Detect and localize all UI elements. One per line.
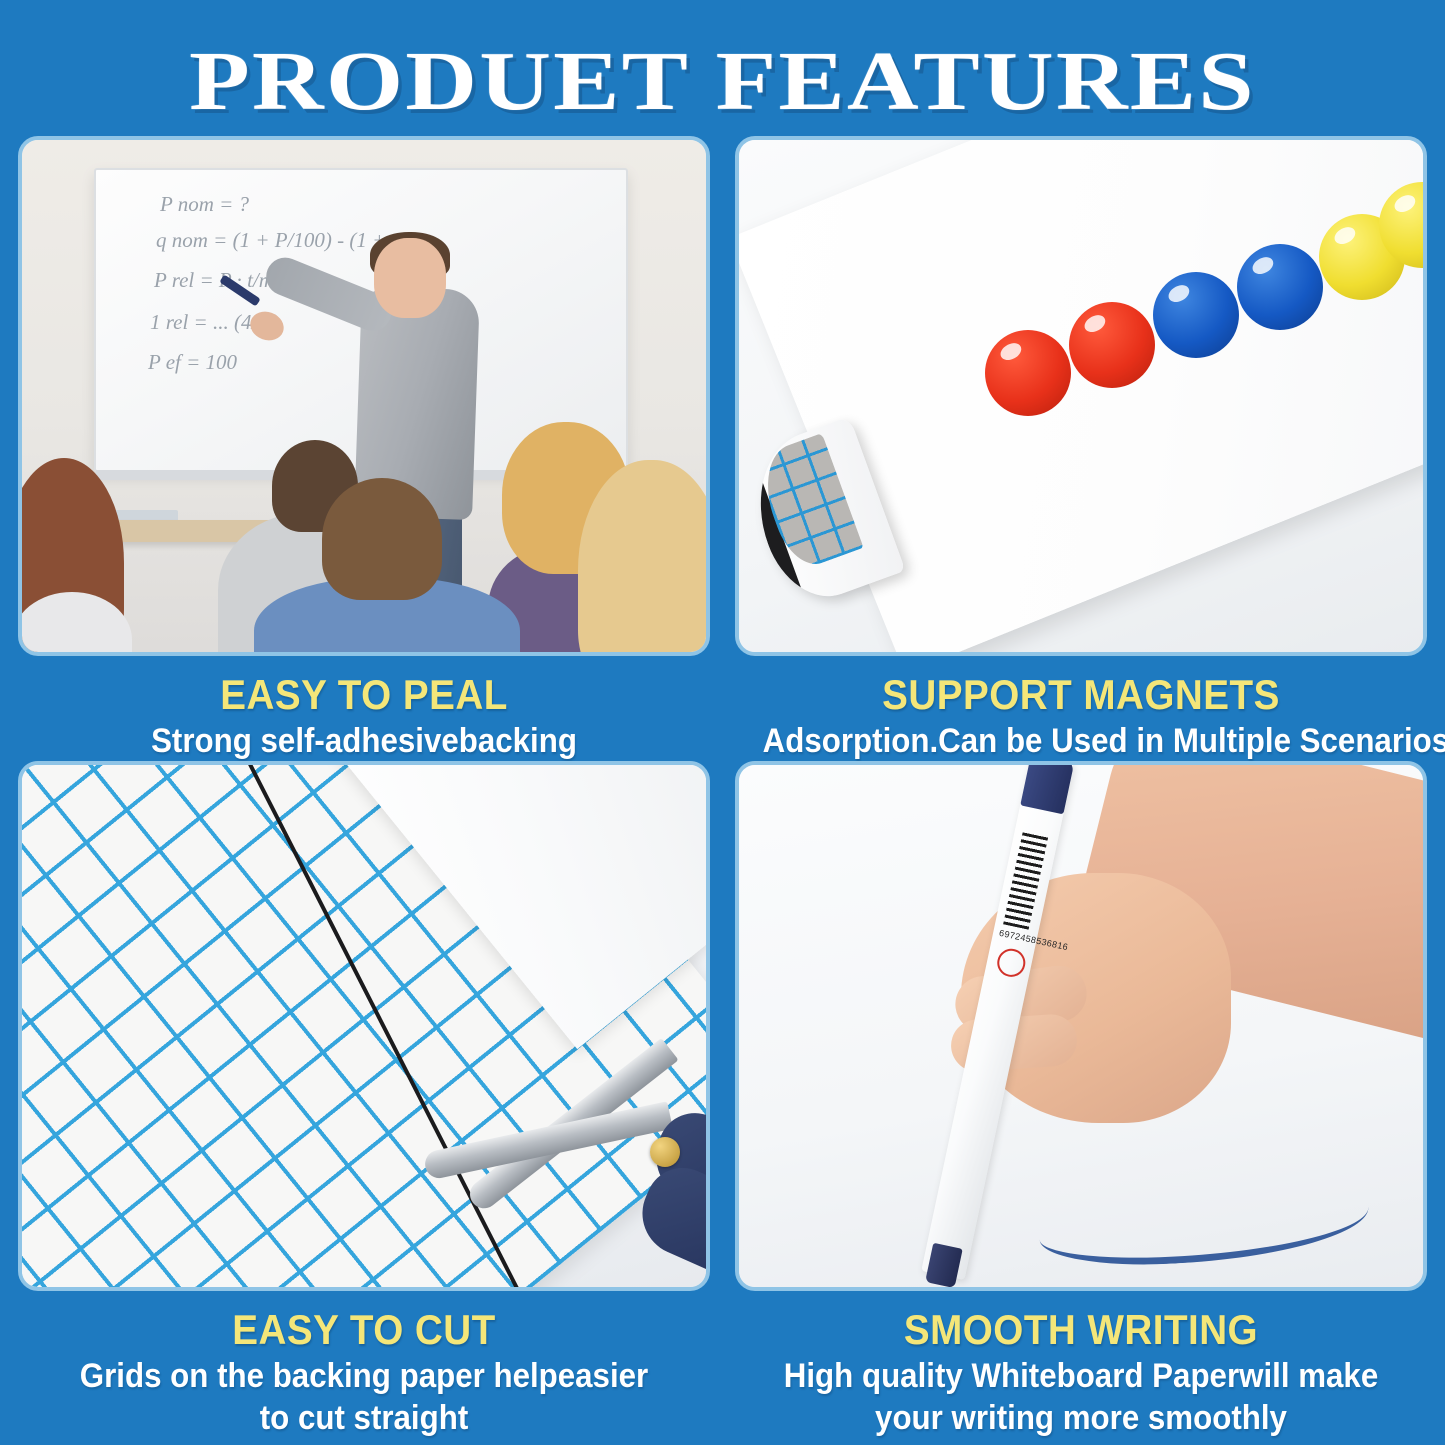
feature-title: SMOOTH WRITING — [763, 1305, 1400, 1355]
feature-card-easy-to-peal: P nom = ? q nom = (1 + P/100) - (1 + x) … — [18, 136, 710, 762]
student-head — [322, 478, 442, 600]
feature-title: EASY TO CUT — [46, 1305, 683, 1355]
magnet-blue — [1153, 272, 1239, 358]
photo-magnets — [735, 136, 1427, 656]
warning-icon — [995, 946, 1028, 979]
feature-subtitle-line: your writing more smoothly — [763, 1397, 1400, 1439]
feature-subtitle: Grids on the backing paper helpeasier to… — [46, 1355, 683, 1439]
caption-easy-to-peal: EASY TO PEAL Strong self-adhesivebacking — [18, 656, 710, 762]
caption-smooth-writing: SMOOTH WRITING High quality Whiteboard P… — [735, 1291, 1427, 1439]
feature-card-easy-to-cut: EASY TO CUT Grids on the backing paper h… — [18, 761, 710, 1439]
teacher-head — [374, 238, 446, 318]
feature-subtitle-line: to cut straight — [46, 1397, 683, 1439]
feature-card-smooth-writing: 6972458536816 SMOOTH WRITING High qualit… — [735, 761, 1427, 1439]
feature-card-support-magnets: SUPPORT MAGNETS Adsorption.Can be Used i… — [735, 136, 1427, 762]
magnet-red — [1069, 302, 1155, 388]
photo-hand-writing: 6972458536816 — [735, 761, 1427, 1291]
marker-barcode-number: 6972458536816 — [998, 928, 1029, 944]
photo-classroom-whiteboard: P nom = ? q nom = (1 + P/100) - (1 + x) … — [18, 136, 710, 656]
feature-subtitle: High quality Whiteboard Paperwill make y… — [763, 1355, 1400, 1439]
magnet-red — [985, 330, 1071, 416]
feature-subtitle: Adsorption.Can be Used in Multiple Scena… — [763, 720, 1400, 762]
scissors-pivot-screw — [650, 1137, 680, 1167]
caption-easy-to-cut: EASY TO CUT Grids on the backing paper h… — [18, 1291, 710, 1439]
photo-scissors-cutting — [18, 761, 710, 1291]
page-title: PRODUET FEATURES — [0, 34, 1445, 130]
feature-title: EASY TO PEAL — [46, 670, 683, 720]
caption-support-magnets: SUPPORT MAGNETS Adsorption.Can be Used i… — [735, 656, 1427, 762]
feature-subtitle: Strong self-adhesivebacking — [46, 720, 683, 762]
feature-subtitle-line: High quality Whiteboard Paperwill make — [763, 1355, 1400, 1397]
features-grid: P nom = ? q nom = (1 + P/100) - (1 + x) … — [0, 136, 1445, 1445]
whiteboard-equation: P ef = 100 — [148, 350, 237, 375]
feature-subtitle-line: Grids on the backing paper helpeasier — [46, 1355, 683, 1397]
magnet-blue — [1237, 244, 1323, 330]
whiteboard-equation: P nom = ? — [160, 192, 249, 217]
feature-title: SUPPORT MAGNETS — [763, 670, 1400, 720]
